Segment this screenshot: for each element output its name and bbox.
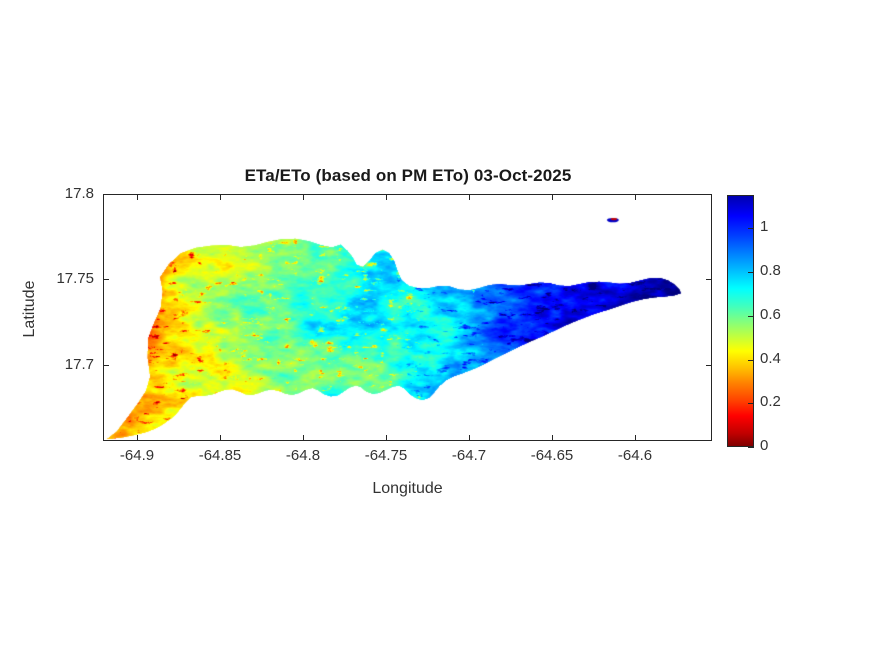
map-axes [103,194,712,441]
eta-eto-heatmap [104,195,712,441]
colorbar-label: 1 [760,218,768,235]
colorbar [727,195,754,447]
colorbar-label: 0.4 [760,350,781,367]
xtick-mark [220,435,221,441]
ytick-mark [706,365,712,366]
colorbar-label: 0.2 [760,393,781,410]
xtick-label: -64.8 [258,447,348,464]
xtick-mark [386,194,387,200]
page-title: ETa/ETo (based on PM ETo) 03-Oct-2025 [103,166,713,186]
xtick-mark [469,194,470,200]
xtick-label: -64.6 [590,447,680,464]
ytick-mark [706,279,712,280]
xtick-label: -64.85 [175,447,265,464]
colorbar-label: 0.8 [760,262,781,279]
xtick-mark [469,435,470,441]
xtick-label: -64.9 [92,447,182,464]
xtick-mark [552,435,553,441]
xtick-label: -64.75 [341,447,431,464]
xtick-mark [386,435,387,441]
xtick-mark [635,194,636,200]
xtick-label: -64.65 [507,447,597,464]
colorbar-tick [748,228,754,229]
ytick-label: 17.8 [14,185,94,202]
colorbar-tick [748,272,754,273]
xtick-mark [137,435,138,441]
xtick-mark [220,194,221,200]
colorbar-tick [748,316,754,317]
y-axis-title: Latitude [21,249,39,369]
colorbar-tick [748,360,754,361]
colorbar-label: 0.6 [760,306,781,323]
xtick-mark [303,194,304,200]
xtick-mark [635,435,636,441]
x-axis-title: Longitude [103,480,712,498]
xtick-mark [303,435,304,441]
xtick-label: -64.7 [424,447,514,464]
xtick-mark [552,194,553,200]
colorbar-tick [748,403,754,404]
ytick-mark [103,279,109,280]
ytick-mark [103,194,109,195]
colorbar-label: 0 [760,437,768,454]
matlab-figure: ETa/ETo (based on PM ETo) 03-Oct-2025 -6… [0,0,875,656]
ytick-mark [103,365,109,366]
colorbar-tick [748,447,754,448]
xtick-mark [137,194,138,200]
